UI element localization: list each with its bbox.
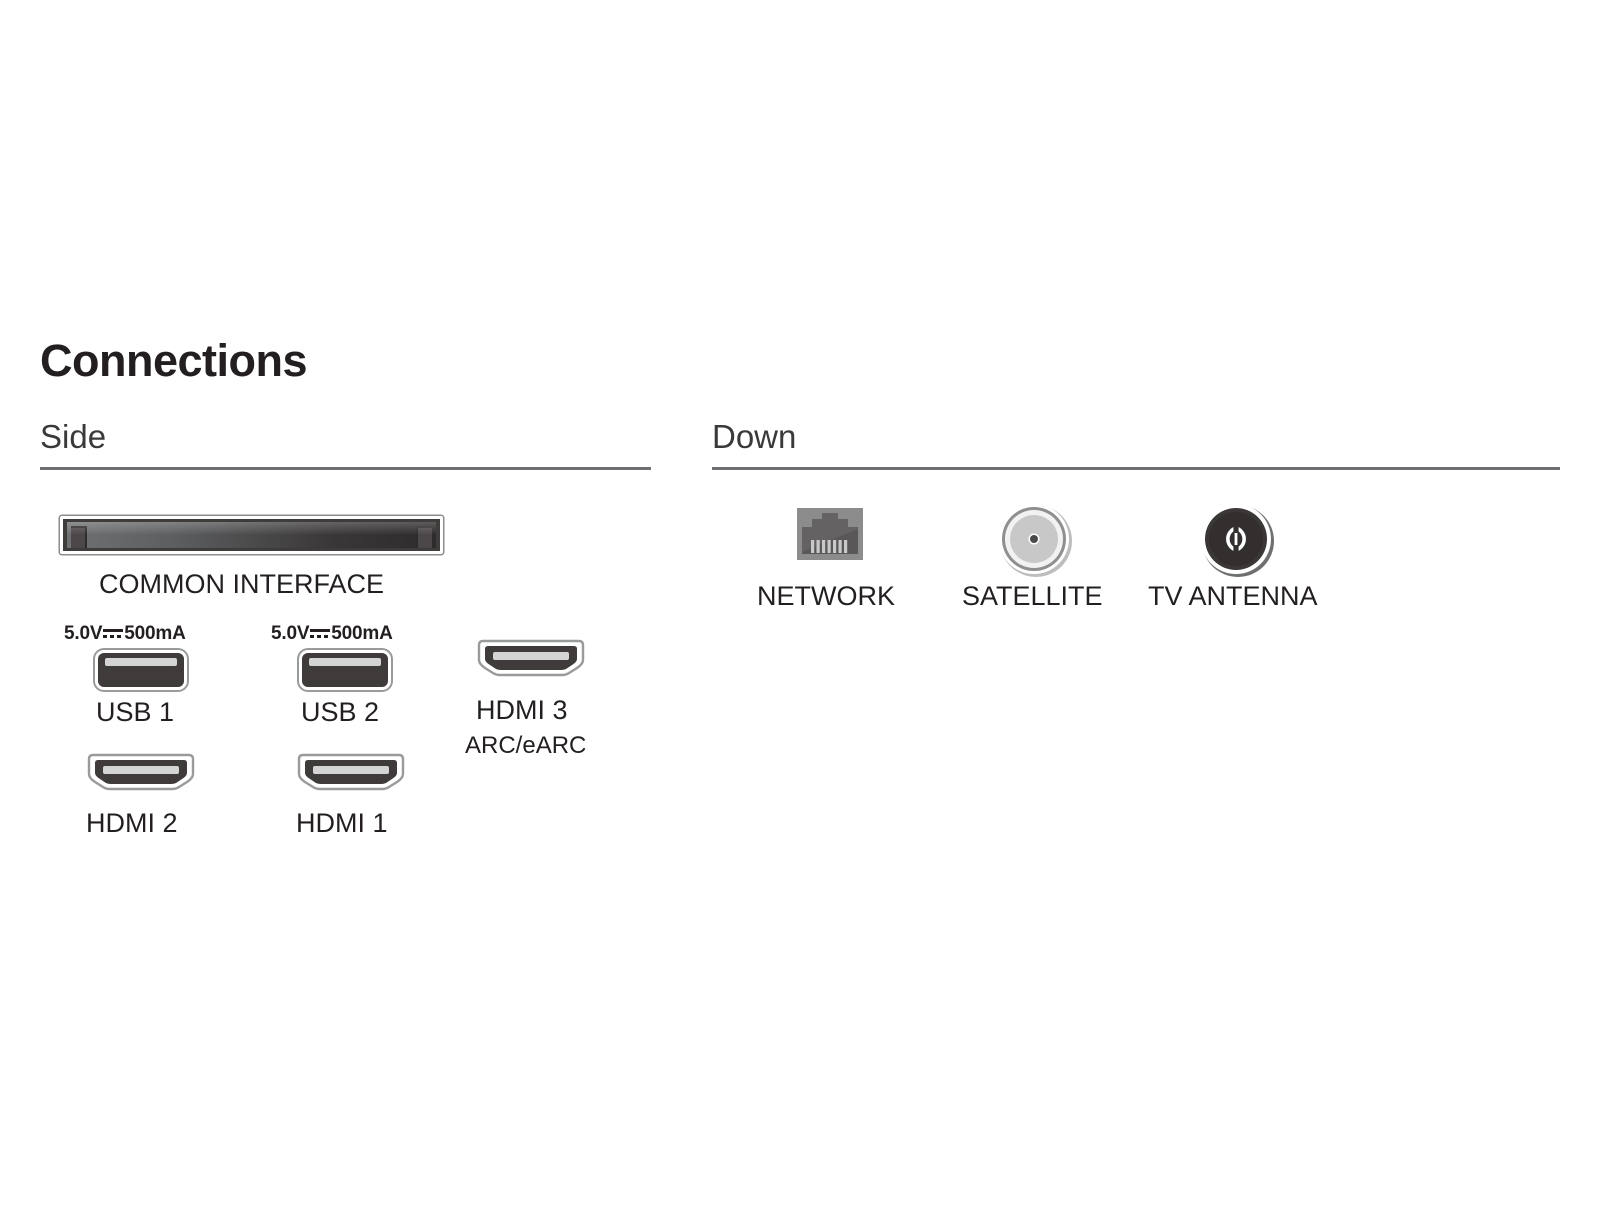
section-down-heading: Down — [712, 420, 1560, 453]
spec-usb-2-current: 500mA — [331, 624, 392, 643]
spec-usb-1: 5.0V 500mA — [64, 624, 186, 643]
ci-slot-notch-left — [71, 526, 87, 548]
label-usb-2: USB 2 — [301, 699, 379, 726]
section-side: Side — [40, 420, 651, 470]
spec-usb-1-current: 500mA — [124, 624, 185, 643]
ci-slot-icon — [60, 516, 443, 554]
coax-antenna-icon — [1197, 500, 1277, 580]
section-down: Down — [712, 420, 1560, 470]
label-hdmi-1: HDMI 1 — [296, 810, 388, 837]
connector-common-interface — [60, 516, 443, 554]
label-common-interface: COMMON INTERFACE — [99, 571, 384, 598]
spec-usb-1-voltage: 5.0V — [64, 624, 102, 643]
spec-usb-2: 5.0V 500mA — [271, 624, 393, 643]
spec-usb-2-voltage: 5.0V — [271, 624, 309, 643]
sublabel-hdmi-3: ARC/eARC — [465, 734, 586, 758]
label-satellite: SATELLITE — [962, 583, 1103, 610]
usb-port-icon-1 — [95, 650, 187, 690]
section-side-heading: Side — [40, 420, 651, 453]
page-title: Connections — [40, 338, 307, 383]
ci-slot-cavity — [67, 522, 436, 548]
rj45-ethernet-icon — [796, 505, 864, 563]
hdmi-port-icon-3 — [477, 638, 585, 678]
hdmi-port-icon-2 — [87, 752, 195, 792]
ci-slot-notch-right — [416, 526, 432, 548]
label-tv-antenna: TV ANTENNA — [1148, 583, 1318, 610]
label-hdmi-3: HDMI 3 — [476, 697, 568, 724]
label-hdmi-2: HDMI 2 — [86, 810, 178, 837]
section-down-divider — [712, 467, 1560, 470]
dc-symbol-icon — [310, 628, 330, 640]
usb-port-icon-2 — [299, 650, 391, 690]
label-usb-1: USB 1 — [96, 699, 174, 726]
hdmi-port-icon-1 — [297, 752, 405, 792]
section-side-divider — [40, 467, 651, 470]
coax-satellite-icon — [995, 500, 1075, 580]
label-network: NETWORK — [757, 583, 895, 610]
dc-symbol-icon — [103, 628, 123, 640]
